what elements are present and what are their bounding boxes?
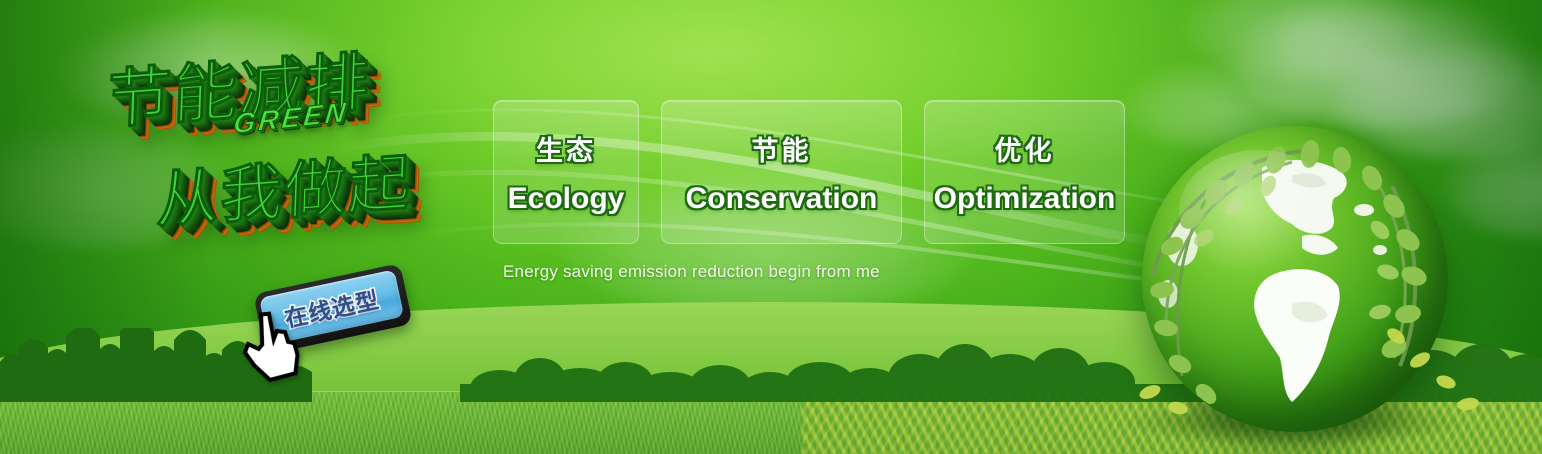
headline-line-2: 从我做起 [155, 132, 414, 240]
floating-leaves-decoration [1120, 300, 1520, 450]
feature-card-optimization[interactable]: 优化 Optimization [924, 100, 1125, 244]
feature-card-en-label: Ecology [508, 182, 625, 216]
headline-3d: 节能减排 GREEN 从我做起 [88, 22, 503, 279]
globe-highlight [1179, 150, 1338, 272]
feature-card-list: 生态 Ecology 节能 Conservation 优化 Optimizati… [493, 100, 1125, 244]
feature-card-en-label: Optimization [934, 182, 1116, 216]
feature-card-en-label: Conservation [686, 182, 878, 216]
eco-promo-banner: 节能减排 GREEN 从我做起 在线选型 生态 Ecology 节能 Conse… [0, 0, 1542, 454]
feature-card-cn-label: 优化 [995, 129, 1055, 168]
feature-card-cn-label: 生态 [536, 129, 596, 168]
feature-card-conservation[interactable]: 节能 Conservation [661, 100, 902, 244]
pointer-hand-cursor-icon [237, 307, 306, 387]
feature-card-cn-label: 节能 [752, 129, 812, 168]
banner-tagline: Energy saving emission reduction begin f… [503, 262, 880, 282]
feature-card-ecology[interactable]: 生态 Ecology [493, 100, 639, 244]
